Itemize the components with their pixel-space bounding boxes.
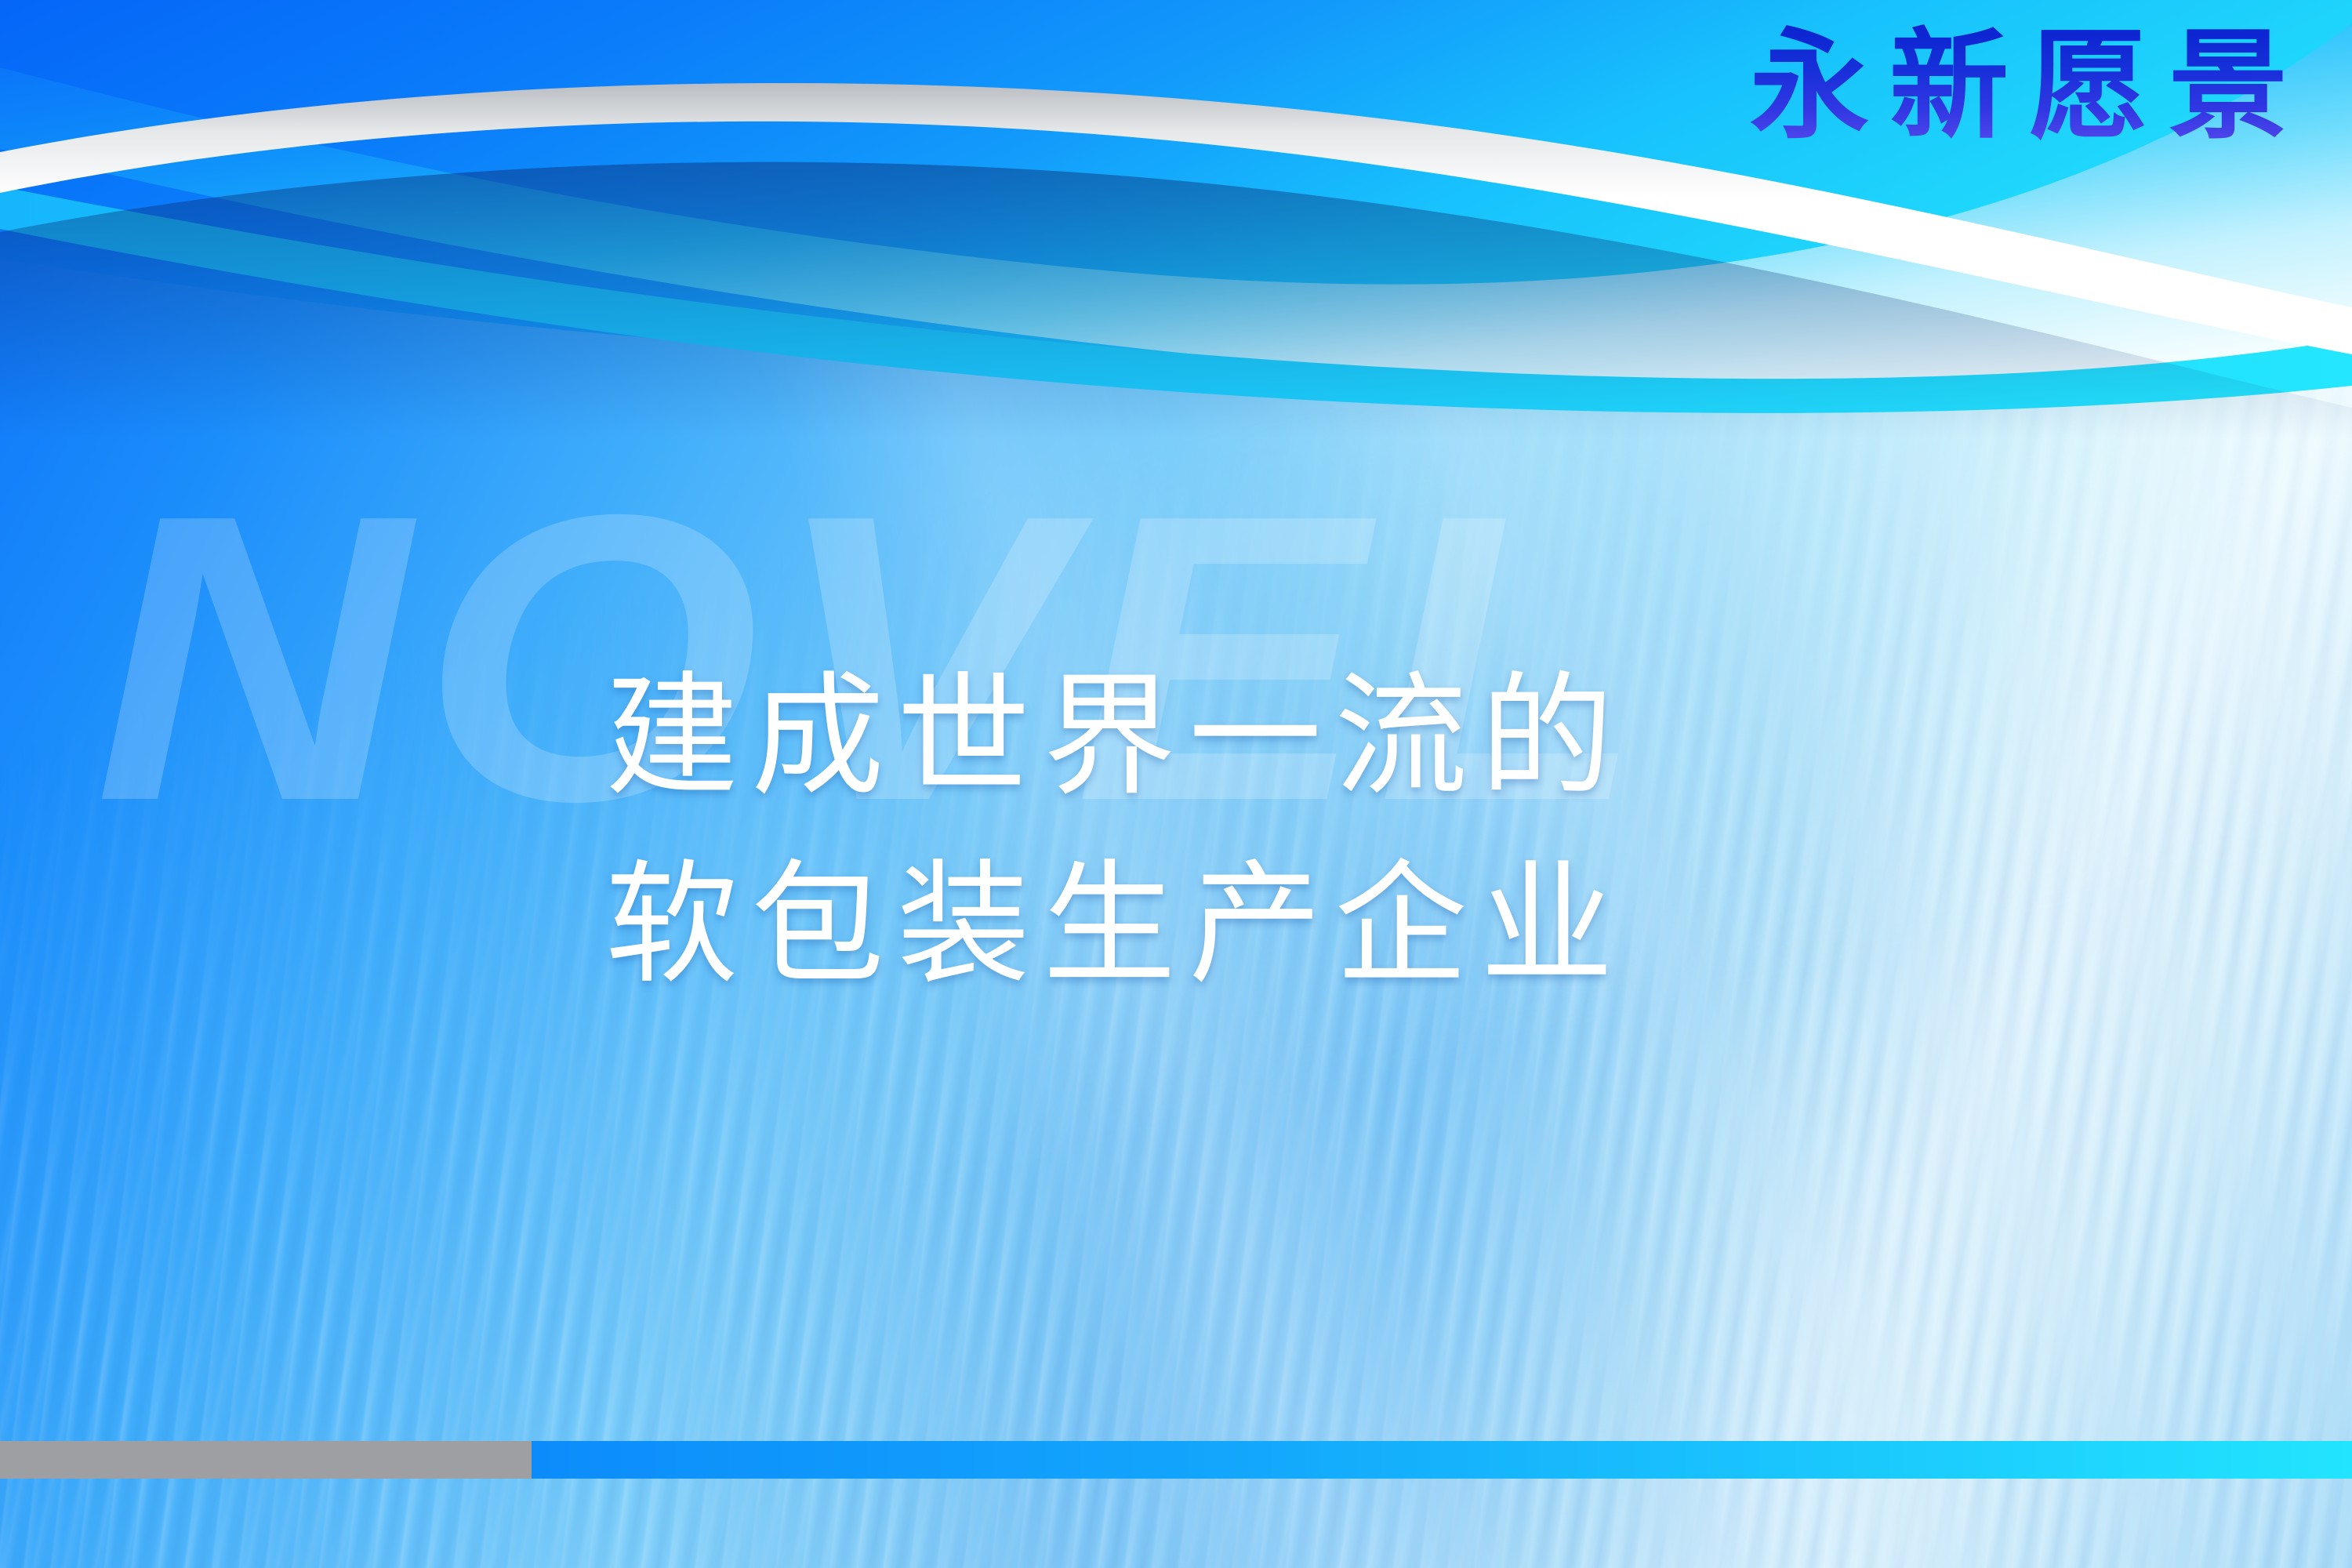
slide-heading: 永新愿景 bbox=[1750, 20, 2311, 154]
blue-accent-bar bbox=[532, 1441, 2352, 1479]
title-line-1: 建成世界一流的 bbox=[605, 643, 1938, 831]
presentation-slide: NOVEL bbox=[0, 0, 2352, 1568]
main-title: 建成世界一流的 软包装生产企业 bbox=[605, 643, 1938, 1019]
footer-accent-bars bbox=[0, 1441, 2352, 1479]
title-line-2: 软包装生产企业 bbox=[605, 831, 1938, 1019]
gray-accent-bar bbox=[0, 1441, 532, 1479]
